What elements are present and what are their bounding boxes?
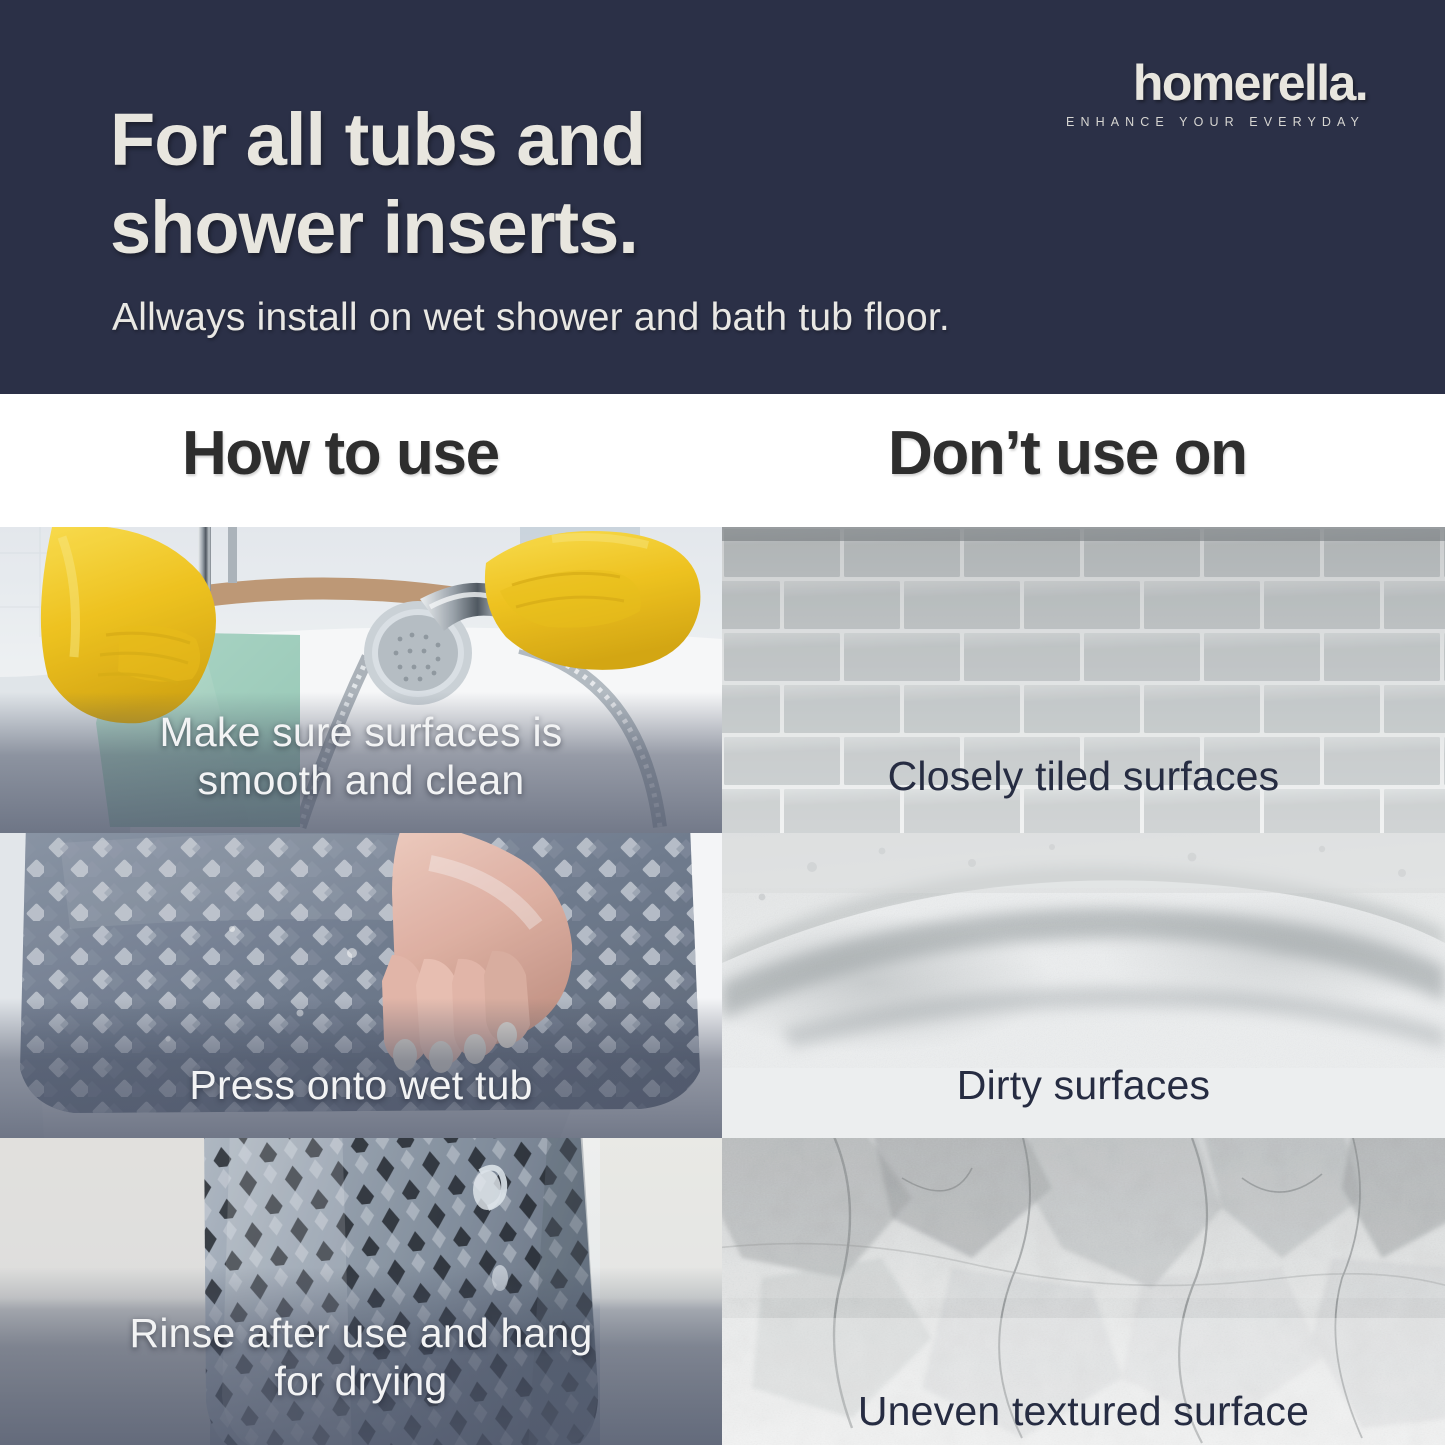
panel-caption: Uneven textured surface — [722, 1388, 1445, 1436]
caption-line-2: for drying — [0, 1358, 722, 1406]
logo-wordmark: homerella. — [1066, 58, 1367, 108]
page-headline: For all tubs and shower inserts. — [110, 96, 870, 272]
panel-press-onto-wet-tub: Press onto wet tub — [0, 833, 722, 1138]
panel-rinse-after-use: Rinse after use and hang for drying — [0, 1138, 722, 1445]
caption-line-2: smooth and clean — [0, 757, 722, 805]
panel-caption: Closely tiled surfaces — [722, 753, 1445, 801]
caption-line-1: Make sure surfaces is — [0, 709, 722, 757]
section-title-bar: How to use Don’t use on — [0, 394, 1445, 527]
logo-tagline: ENHANCE YOUR EVERYDAY — [1066, 115, 1367, 129]
panel-uneven-textured-surface: Uneven textured surface — [722, 1138, 1445, 1445]
panel-dirty-surfaces: Dirty surfaces — [722, 833, 1445, 1138]
panel-caption: Rinse after use and hang for drying — [0, 1310, 722, 1406]
header-banner: For all tubs and shower inserts. Allways… — [0, 0, 1445, 394]
panel-closely-tiled-surfaces: Closely tiled surfaces — [722, 527, 1445, 833]
caption-line-1: Uneven textured surface — [722, 1388, 1445, 1436]
product-infographic: For all tubs and shower inserts. Allways… — [0, 0, 1445, 1445]
caption-line-1: Rinse after use and hang — [0, 1310, 722, 1358]
page-subheadline: Allways install on wet shower and bath t… — [112, 296, 1312, 340]
panel-make-sure-surfaces: Make sure surfaces is smooth and clean — [0, 527, 722, 833]
section-title-dont-use-on: Don’t use on — [888, 418, 1247, 489]
brand-logo: homerella. ENHANCE YOUR EVERYDAY — [1066, 58, 1367, 129]
panel-caption: Press onto wet tub — [0, 1062, 722, 1110]
caption-line-1: Press onto wet tub — [0, 1062, 722, 1110]
caption-line-1: Dirty surfaces — [722, 1062, 1445, 1110]
section-title-how-to-use: How to use — [182, 418, 499, 489]
panel-caption: Make sure surfaces is smooth and clean — [0, 709, 722, 805]
panel-caption: Dirty surfaces — [722, 1062, 1445, 1110]
caption-line-1: Closely tiled surfaces — [722, 753, 1445, 801]
